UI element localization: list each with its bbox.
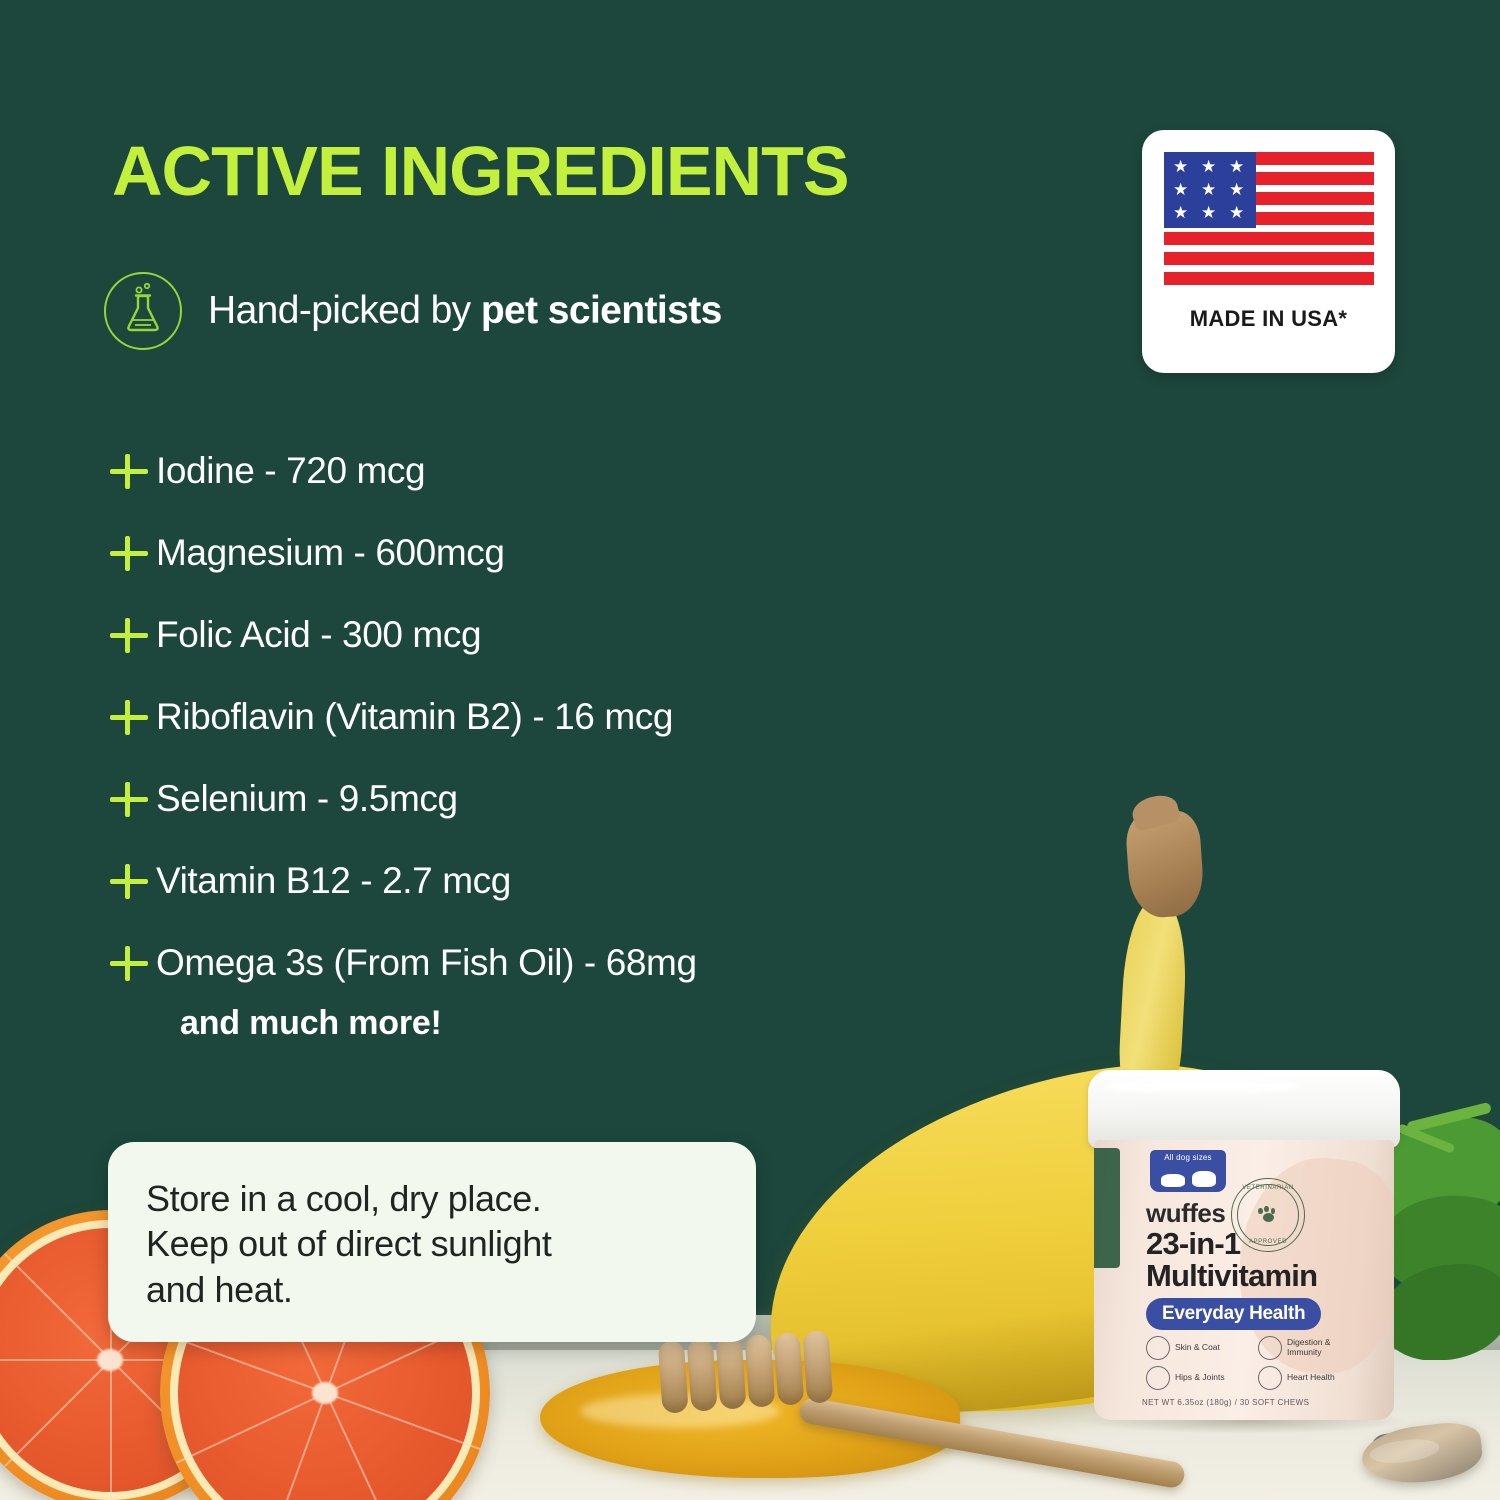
benefit-item: Skin & Coat xyxy=(1146,1336,1220,1360)
ingredient-label: Omega 3s (From Fish Oil) - 68mg xyxy=(156,942,697,984)
hips-joints-icon xyxy=(1146,1366,1170,1390)
jar-lid xyxy=(1088,1070,1400,1148)
list-item: Vitamin B12 - 2.7 mcg xyxy=(104,840,1004,922)
list-item: Iodine - 720 mcg xyxy=(104,430,1004,512)
subtitle-text: Hand-picked by pet scientists xyxy=(208,289,722,333)
subtitle-emphasis: pet scientists xyxy=(481,289,722,332)
storage-line-1: Store in a cool, dry place. xyxy=(146,1176,718,1221)
flask-icon xyxy=(104,272,182,350)
ingredient-label: Folic Acid - 300 mcg xyxy=(156,614,481,656)
plus-icon xyxy=(104,697,156,737)
benefit-item: Hips & Joints xyxy=(1146,1366,1225,1390)
large-dog-icon xyxy=(1192,1171,1216,1187)
product-name: 23-in-1 Multivitamin xyxy=(1146,1228,1317,1292)
plus-icon xyxy=(104,615,156,655)
banana-stem xyxy=(1124,810,1205,920)
paw-print-icon xyxy=(1258,1206,1278,1224)
list-item: Selenium - 9.5mcg xyxy=(104,758,1004,840)
benefit-label: Heart Health xyxy=(1287,1373,1335,1383)
net-weight-text: NET WT 6.35oz (180g) / 30 SOFT CHEWS xyxy=(1142,1398,1309,1407)
digestion-icon xyxy=(1258,1336,1282,1360)
honey-dipper-head xyxy=(658,1330,833,1414)
benefit-item: Heart Health xyxy=(1258,1366,1335,1390)
heart-health-icon xyxy=(1258,1366,1282,1390)
ingredient-label: Vitamin B12 - 2.7 mcg xyxy=(156,860,511,902)
storage-instructions-card: Store in a cool, dry place. Keep out of … xyxy=(108,1142,756,1342)
jar-label: All dog sizes VETERINARIAN APPROVED wuff… xyxy=(1094,1140,1394,1420)
ingredient-list: Iodine - 720 mcg Magnesium - 600mcg Foli… xyxy=(104,430,1004,1043)
small-dog-icon xyxy=(1161,1174,1185,1187)
all-dog-sizes-badge: All dog sizes xyxy=(1150,1150,1226,1192)
brand-name: wuffes xyxy=(1146,1198,1225,1229)
list-item: Magnesium - 600mcg xyxy=(104,512,1004,594)
product-name-line1: 23-in-1 xyxy=(1146,1228,1317,1260)
seal-top-text: VETERINARIAN xyxy=(1232,1185,1304,1191)
product-jar: All dog sizes VETERINARIAN APPROVED wuff… xyxy=(1088,1070,1400,1420)
jar-side-panel xyxy=(1094,1148,1120,1268)
list-item: Omega 3s (From Fish Oil) - 68mg xyxy=(104,922,1004,1004)
flag-canton: ★ ★ ★ ★ ★ ★ ★ ★ ★ xyxy=(1164,152,1256,228)
made-in-usa-badge: ★ ★ ★ ★ ★ ★ ★ ★ ★ MADE IN USA* xyxy=(1142,130,1395,373)
product-infographic: All dog sizes VETERINARIAN APPROVED wuff… xyxy=(0,0,1500,1500)
ingredient-label: Magnesium - 600mcg xyxy=(156,532,505,574)
page-title: ACTIVE INGREDIENTS xyxy=(112,136,849,206)
subtitle-row: Hand-picked by pet scientists xyxy=(104,272,722,350)
and-much-more-text: and much more! xyxy=(180,1004,1004,1043)
ingredient-label: Iodine - 720 mcg xyxy=(156,450,425,492)
everyday-health-pill: Everyday Health xyxy=(1146,1298,1321,1330)
benefit-item: Digestion & Immunity xyxy=(1258,1336,1356,1360)
plus-icon xyxy=(104,533,156,573)
plus-icon xyxy=(104,943,156,983)
skin-coat-icon xyxy=(1146,1336,1170,1360)
ingredient-label: Riboflavin (Vitamin B2) - 16 mcg xyxy=(156,696,673,738)
size-badge-label: All dog sizes xyxy=(1150,1150,1226,1162)
ingredient-label: Selenium - 9.5mcg xyxy=(156,778,458,820)
benefit-label: Skin & Coat xyxy=(1175,1343,1220,1353)
storage-line-3: and heat. xyxy=(146,1267,718,1312)
subtitle-prefix: Hand-picked by xyxy=(208,289,481,332)
storage-line-2: Keep out of direct sunlight xyxy=(146,1221,718,1266)
benefit-label: Hips & Joints xyxy=(1175,1373,1225,1383)
made-in-usa-label: MADE IN USA* xyxy=(1142,306,1395,332)
list-item: Riboflavin (Vitamin B2) - 16 mcg xyxy=(104,676,1004,758)
benefit-label: Digestion & Immunity xyxy=(1287,1338,1356,1357)
plus-icon xyxy=(104,451,156,491)
us-flag-icon: ★ ★ ★ ★ ★ ★ ★ ★ ★ xyxy=(1164,152,1374,286)
list-item: Folic Acid - 300 mcg xyxy=(104,594,1004,676)
product-name-line2: Multivitamin xyxy=(1146,1260,1317,1292)
plus-icon xyxy=(104,779,156,819)
plus-icon xyxy=(104,861,156,901)
